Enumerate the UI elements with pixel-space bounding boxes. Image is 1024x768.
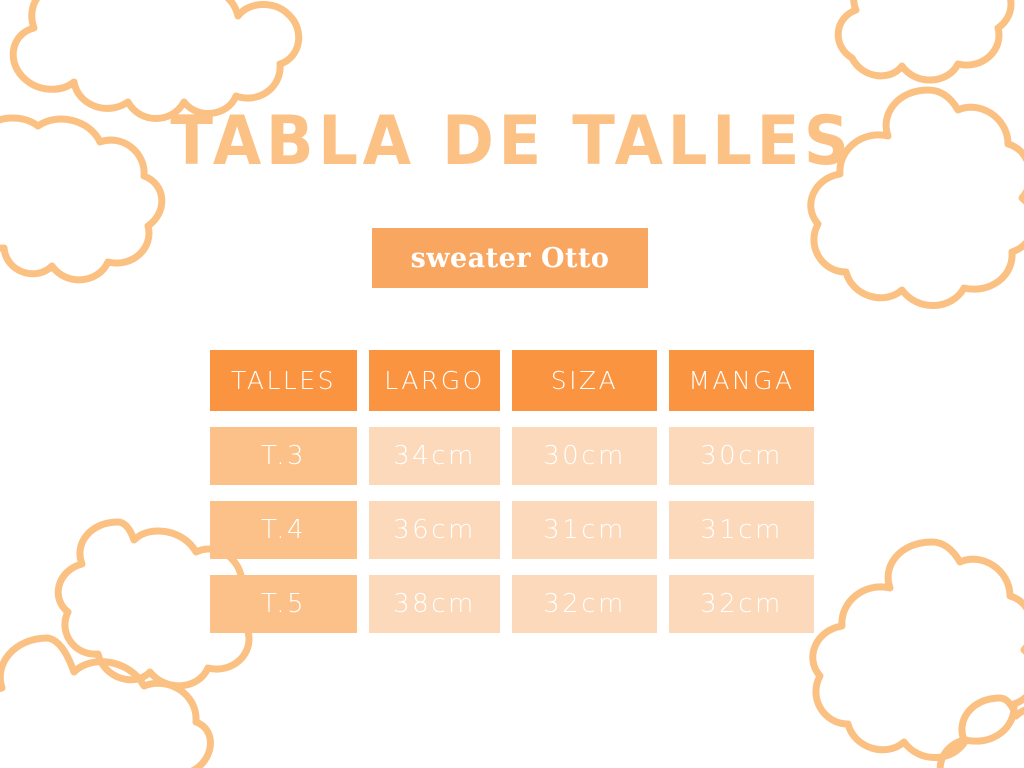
cell-manga: 30cm [669, 427, 814, 485]
cell-siza: 32cm [512, 575, 657, 633]
cell-manga: 31cm [669, 501, 814, 559]
column-header-talles: TALLES [210, 350, 357, 411]
cell-siza: 31cm [512, 501, 657, 559]
cell-talles: T.3 [210, 427, 357, 485]
table-header-row: TALLES LARGO SIZA MANGA [210, 350, 814, 411]
cloud-top-left-icon [13, 0, 299, 118]
cloud-bottom-left-large-icon [0, 638, 210, 768]
size-table: TALLES LARGO SIZA MANGA T.3 34cm 30cm 30… [210, 350, 814, 633]
page-title: TABLA DE TALLES [41, 103, 983, 181]
column-header-siza: SIZA [512, 350, 657, 411]
cell-manga: 32cm [669, 575, 814, 633]
size-chart-canvas: TABLA DE TALLES sweater Otto TALLES LARG… [0, 0, 1024, 768]
column-header-manga: MANGA [669, 350, 814, 411]
cloud-top-right-icon [838, 0, 1011, 80]
cell-largo: 36cm [369, 501, 500, 559]
subtitle-text: sweater Otto [411, 243, 610, 274]
cell-siza: 30cm [512, 427, 657, 485]
cloud-bottom-right-small-icon [940, 698, 1024, 768]
subtitle-banner: sweater Otto [372, 228, 648, 288]
cloud-bottom-right-icon [813, 542, 1024, 758]
cell-talles: T.4 [210, 501, 357, 559]
column-header-largo: LARGO [369, 350, 500, 411]
cell-talles: T.5 [210, 575, 357, 633]
table-row: T.4 36cm 31cm 31cm [210, 501, 814, 559]
table-row: T.5 38cm 32cm 32cm [210, 575, 814, 633]
cell-largo: 34cm [369, 427, 500, 485]
cell-largo: 38cm [369, 575, 500, 633]
table-row: T.3 34cm 30cm 30cm [210, 427, 814, 485]
